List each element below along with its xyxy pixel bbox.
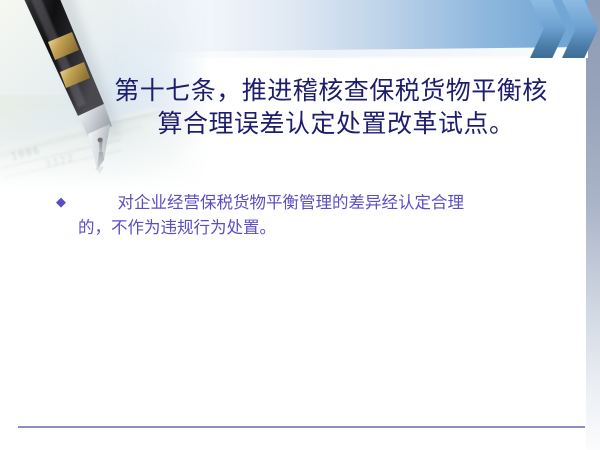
chevron-decoration-group [490,0,600,58]
right-edge-strip [586,0,600,450]
title-line-1: 第十七条，推进稽核查保税货物平衡核 [96,74,566,107]
bullet-item: ◆ 对企业经营保税货物平衡管理的差异经认定合理 [56,190,566,215]
slide-canvas: 1006 3322 signature [0,0,600,450]
bullet-text-line-1: 对企业经营保税货物平衡管理的差异经认定合理 [118,193,465,212]
bottom-divider-line [18,426,585,428]
diamond-bullet-icon: ◆ [56,190,69,215]
chevron-right-icon [530,0,566,58]
title-line-2: 算合理误差认定处置改革试点。 [96,107,566,140]
chevron-right-icon [562,0,598,58]
bullet-text-line-2: 的，不作为违规行为处置。 [56,215,566,240]
slide-body: ◆ 对企业经营保税货物平衡管理的差异经认定合理 的，不作为违规行为处置。 [56,190,566,240]
slide-title: 第十七条，推进稽核查保税货物平衡核 算合理误差认定处置改革试点。 [96,74,566,140]
